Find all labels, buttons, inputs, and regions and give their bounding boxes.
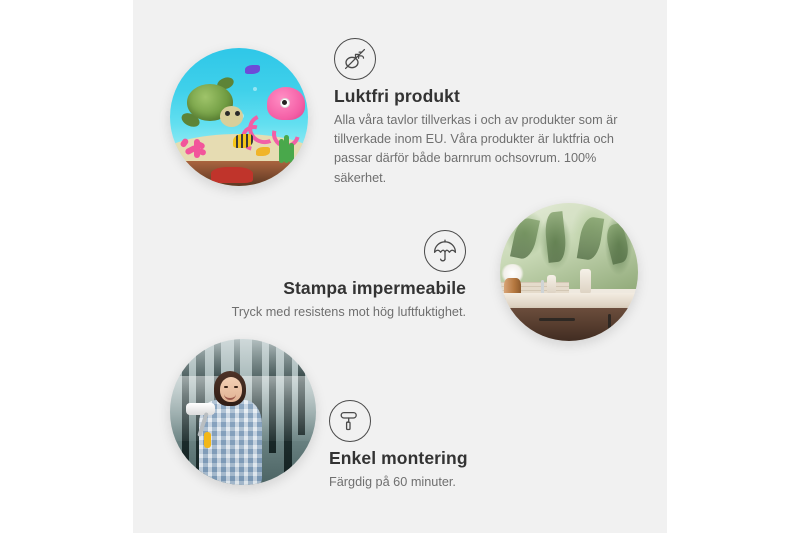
- no-odor-spray-bottle-icon: [334, 38, 376, 80]
- image-ocean-kids-mural: [170, 48, 308, 186]
- feature-description: Alla våra tavlor tillverkas i och av pro…: [334, 111, 634, 188]
- image-woman-painter-forest-wallpaper: [170, 339, 316, 485]
- woman-eye: [234, 386, 238, 388]
- product-features-banner: Luktfri produkt Alla våra tavlor tillver…: [0, 0, 800, 533]
- umbrella-glyph: [432, 238, 458, 264]
- bubble-decor: [253, 87, 257, 91]
- fish-purple: [245, 65, 260, 74]
- feature-title: Luktfri produkt: [334, 86, 634, 108]
- image-bathroom-tropical-wallpaper: [500, 203, 638, 341]
- feature-description: Färgdig på 60 minuter.: [329, 473, 579, 492]
- turtle-head: [220, 106, 243, 127]
- soap-bottle: [547, 275, 556, 294]
- feature-description: Tryck med resistens mot hög luftfuktighe…: [214, 303, 466, 322]
- paint-roller-head: [186, 403, 215, 415]
- seabed-rock: [211, 167, 252, 184]
- paint-roller-icon: [329, 400, 371, 442]
- woman-eye: [224, 386, 228, 388]
- feature-easy-mounting: Enkel montering Färgdig på 60 minuter.: [329, 400, 579, 492]
- umbrella-icon: [424, 230, 466, 272]
- feature-title: Enkel montering: [329, 448, 579, 470]
- soap-bottle: [580, 269, 591, 294]
- coral-pink: [178, 127, 214, 159]
- icon-row: [214, 230, 466, 272]
- feature-odor-free: Luktfri produkt Alla våra tavlor tillver…: [334, 38, 634, 188]
- seagrass: [278, 135, 295, 163]
- feature-waterproof-print: Stampa impermeabile Tryck med resistens …: [214, 230, 466, 322]
- wood-vanity-cabinet: [508, 308, 638, 341]
- paint-roller-glyph: [337, 408, 363, 434]
- no-odor-glyph: [342, 46, 368, 72]
- feature-title: Stampa impermeabile: [214, 278, 466, 300]
- paint-roller-grip: [204, 432, 211, 448]
- fish-striped: [233, 134, 253, 148]
